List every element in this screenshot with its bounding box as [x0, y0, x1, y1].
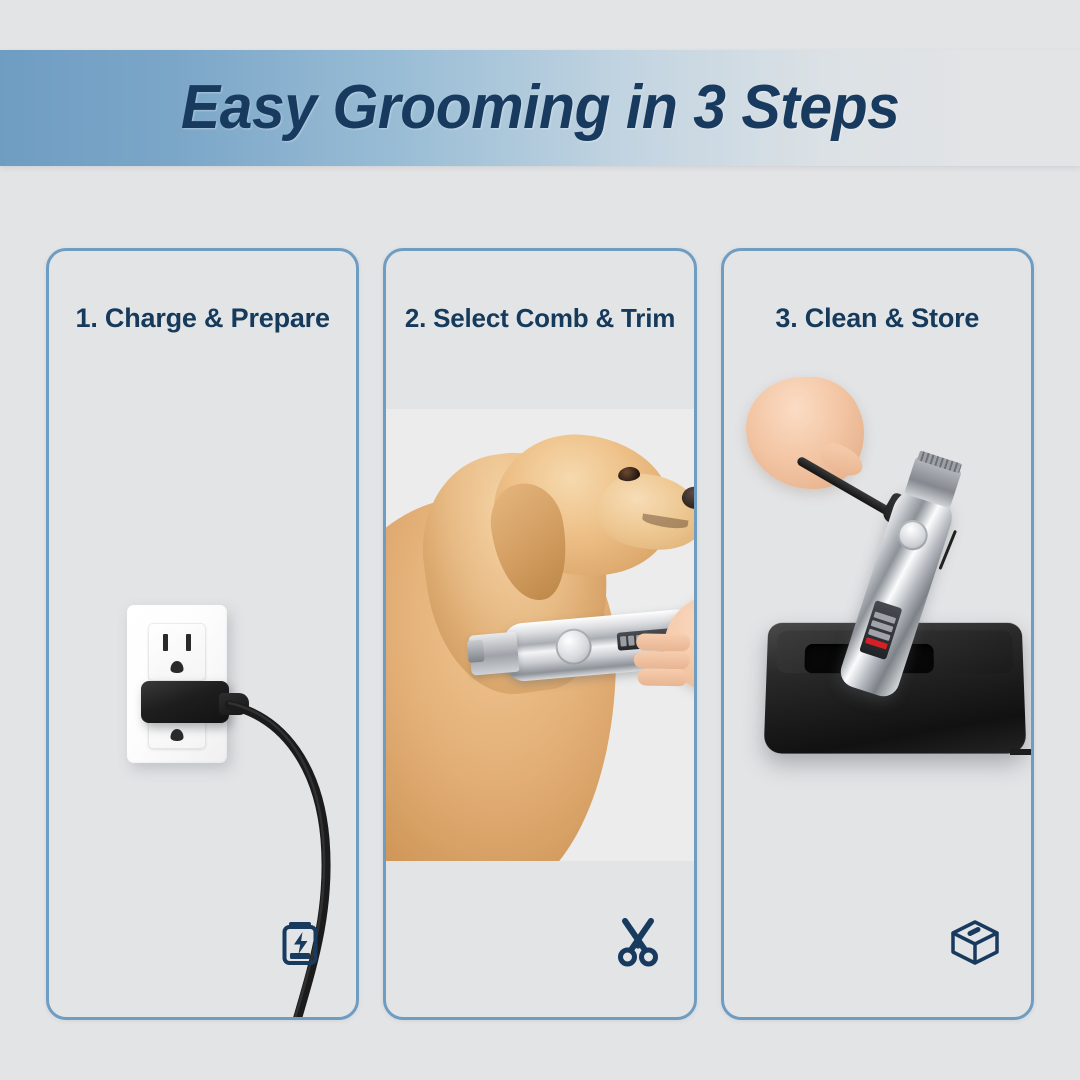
battery-charging-icon [272, 913, 328, 969]
finger [638, 668, 688, 686]
socket-ground-hole [171, 661, 184, 673]
step-title-2: 2. Select Comb & Trim [386, 303, 693, 334]
socket-slot-left [163, 634, 168, 651]
clipper-cleaning-photo [724, 371, 1031, 921]
step-title-1: 1. Charge & Prepare [49, 303, 356, 334]
box-icon [947, 913, 1003, 969]
step-card-select-trim[interactable]: 2. Select Comb & Trim [383, 248, 696, 1020]
outlet-socket-top [148, 623, 206, 681]
step-title-3: 3. Clean & Store [724, 303, 1031, 334]
dog-grooming-photo [386, 409, 693, 861]
step-card-charge-prepare[interactable]: 1. Charge & Prepare [46, 248, 359, 1020]
charging-base-cord [1010, 723, 1034, 755]
finger [634, 651, 690, 669]
socket-ground-hole-bottom [171, 729, 184, 741]
led-indicator [620, 636, 627, 646]
finger [636, 633, 690, 651]
socket-slot-right [186, 634, 191, 651]
page-title: Easy Grooming in 3 Steps [181, 72, 899, 143]
header-banner: Easy Grooming in 3 Steps [0, 50, 1080, 166]
step-card-clean-store[interactable]: 3. Clean & Store [721, 248, 1034, 1020]
led-indicator [628, 635, 635, 645]
charger-cable [199, 699, 359, 1020]
scissors-icon [610, 913, 666, 969]
steps-container: 1. Charge & Prepare [46, 248, 1034, 1020]
clipper-blade [467, 640, 485, 663]
outlet-illustration [49, 381, 356, 921]
groomer-hand [664, 592, 694, 698]
